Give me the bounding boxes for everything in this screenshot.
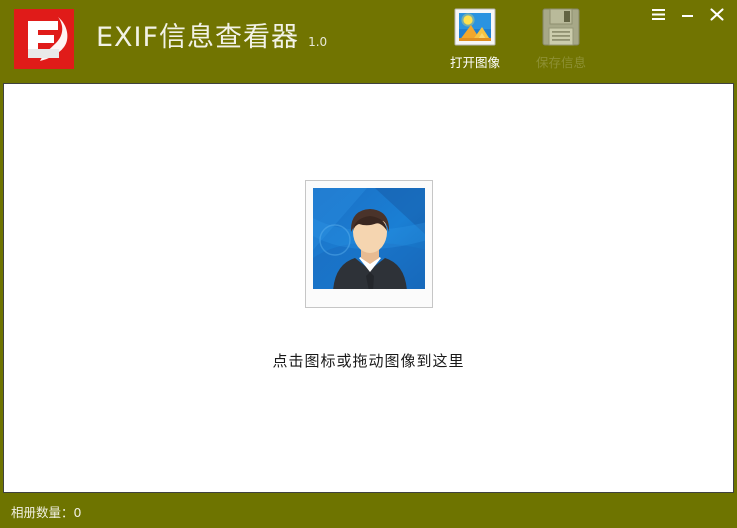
save-info-button[interactable]: 保存信息	[532, 6, 590, 71]
app-window: EXIF信息查看器 1.0	[0, 0, 737, 528]
menu-icon[interactable]	[644, 1, 673, 27]
open-image-button[interactable]: 打开图像	[446, 6, 504, 71]
save-info-label: 保存信息	[536, 52, 586, 71]
portrait-thumbnail	[313, 188, 425, 289]
title-bar: EXIF信息查看器 1.0	[0, 0, 737, 80]
toolbar: 打开图像 保存信息	[446, 6, 590, 78]
minimize-icon[interactable]	[673, 1, 702, 27]
app-title: EXIF信息查看器	[96, 21, 299, 55]
picture-icon	[452, 6, 498, 48]
image-drop-zone[interactable]: 点击图标或拖动图像到这里	[4, 84, 733, 492]
open-image-label: 打开图像	[450, 52, 500, 71]
window-controls	[644, 0, 731, 28]
app-logo-e-icon	[14, 9, 74, 69]
album-count-status: 相册数量：0	[11, 502, 81, 521]
person-portrait-photo-icon[interactable]	[305, 180, 433, 308]
app-version: 1.0	[308, 35, 327, 49]
status-bar: 相册数量：0	[0, 495, 737, 528]
drop-hint-text: 点击图标或拖动图像到这里	[272, 350, 464, 371]
close-icon[interactable]	[702, 1, 731, 27]
floppy-disk-icon	[538, 6, 584, 48]
content-area: 点击图标或拖动图像到这里	[3, 83, 734, 493]
app-title-group: EXIF信息查看器 1.0	[96, 21, 327, 61]
